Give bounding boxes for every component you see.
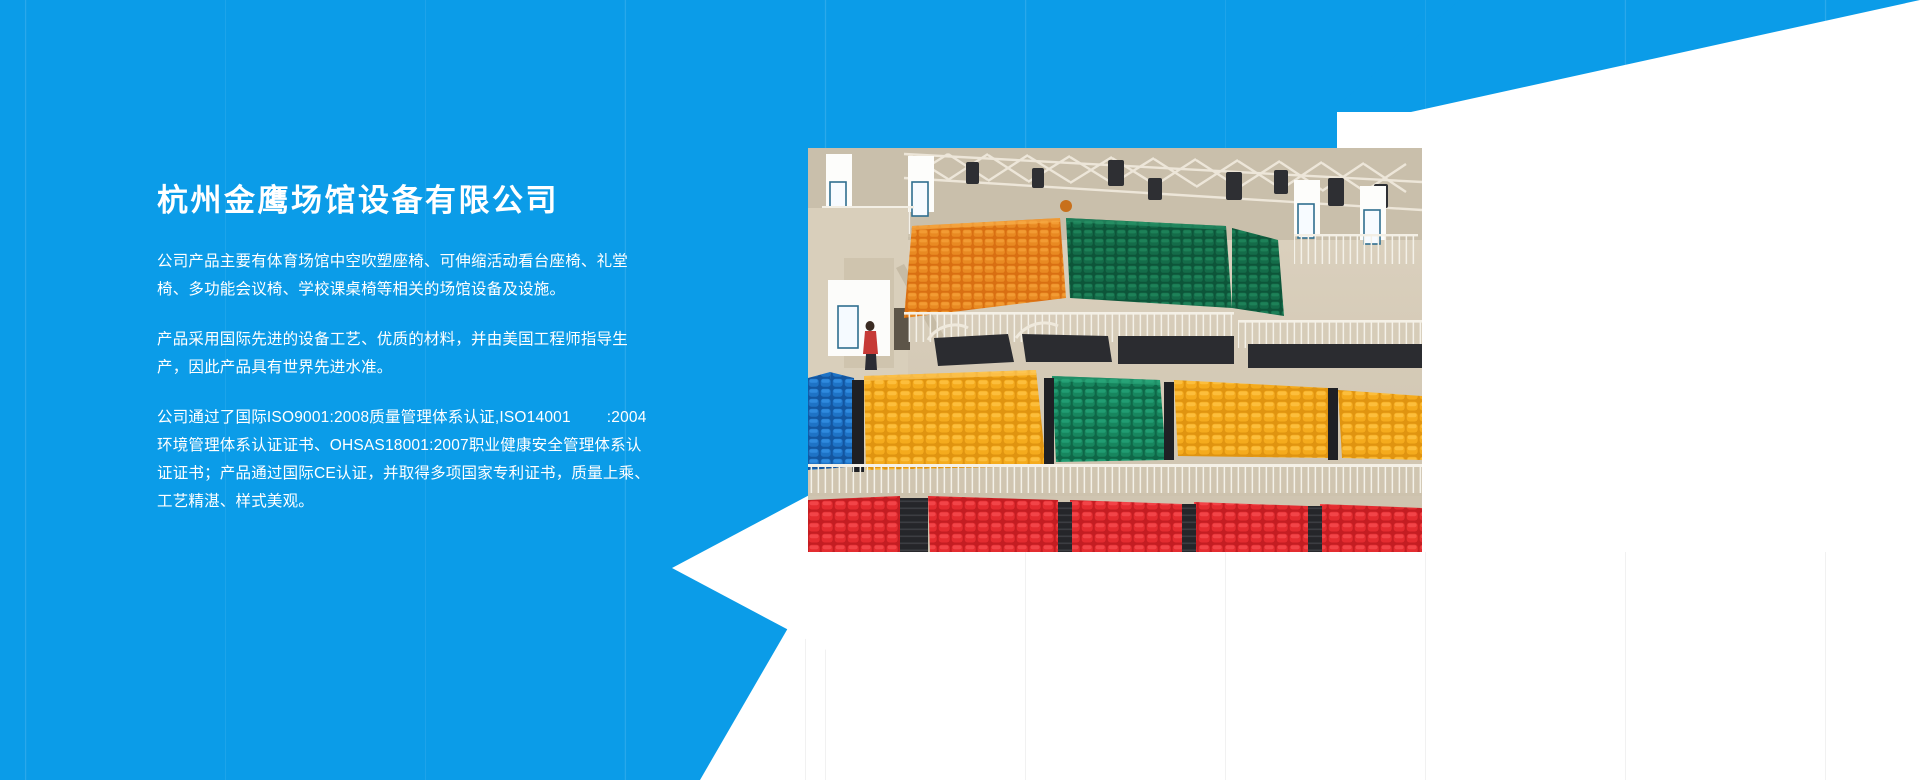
promo-banner: 杭州金鹰场馆设备有限公司 公司产品主要有体育场馆中空吹塑座椅、可伸缩活动看台座椅… xyxy=(0,0,1920,780)
certification-line-first: 公司通过了国际ISO9001:2008质量管理体系认证,ISO14001 xyxy=(157,409,571,426)
intro-paragraph-certifications: 公司通过了国际ISO9001:2008质量管理体系认证,ISO14001:200… xyxy=(157,404,657,516)
intro-paragraph-products: 公司产品主要有体育场馆中空吹塑座椅、可伸缩活动看台座椅、礼堂椅、多功能会议椅、学… xyxy=(157,248,657,304)
page-title: 杭州金鹰场馆设备有限公司 xyxy=(157,182,669,221)
intro-text-column: 杭州金鹰场馆设备有限公司 公司产品主要有体育场馆中空吹塑座椅、可伸缩活动看台座椅… xyxy=(157,182,669,516)
stadium-seating-photo xyxy=(808,148,1422,552)
intro-paragraph-quality: 产品采用国际先进的设备工艺、优质的材料，并由美国工程师指导生产，因此产品具有世界… xyxy=(157,326,657,382)
stadium-photo-graphic xyxy=(808,148,1422,552)
bottom-white-wedge xyxy=(700,552,1920,780)
